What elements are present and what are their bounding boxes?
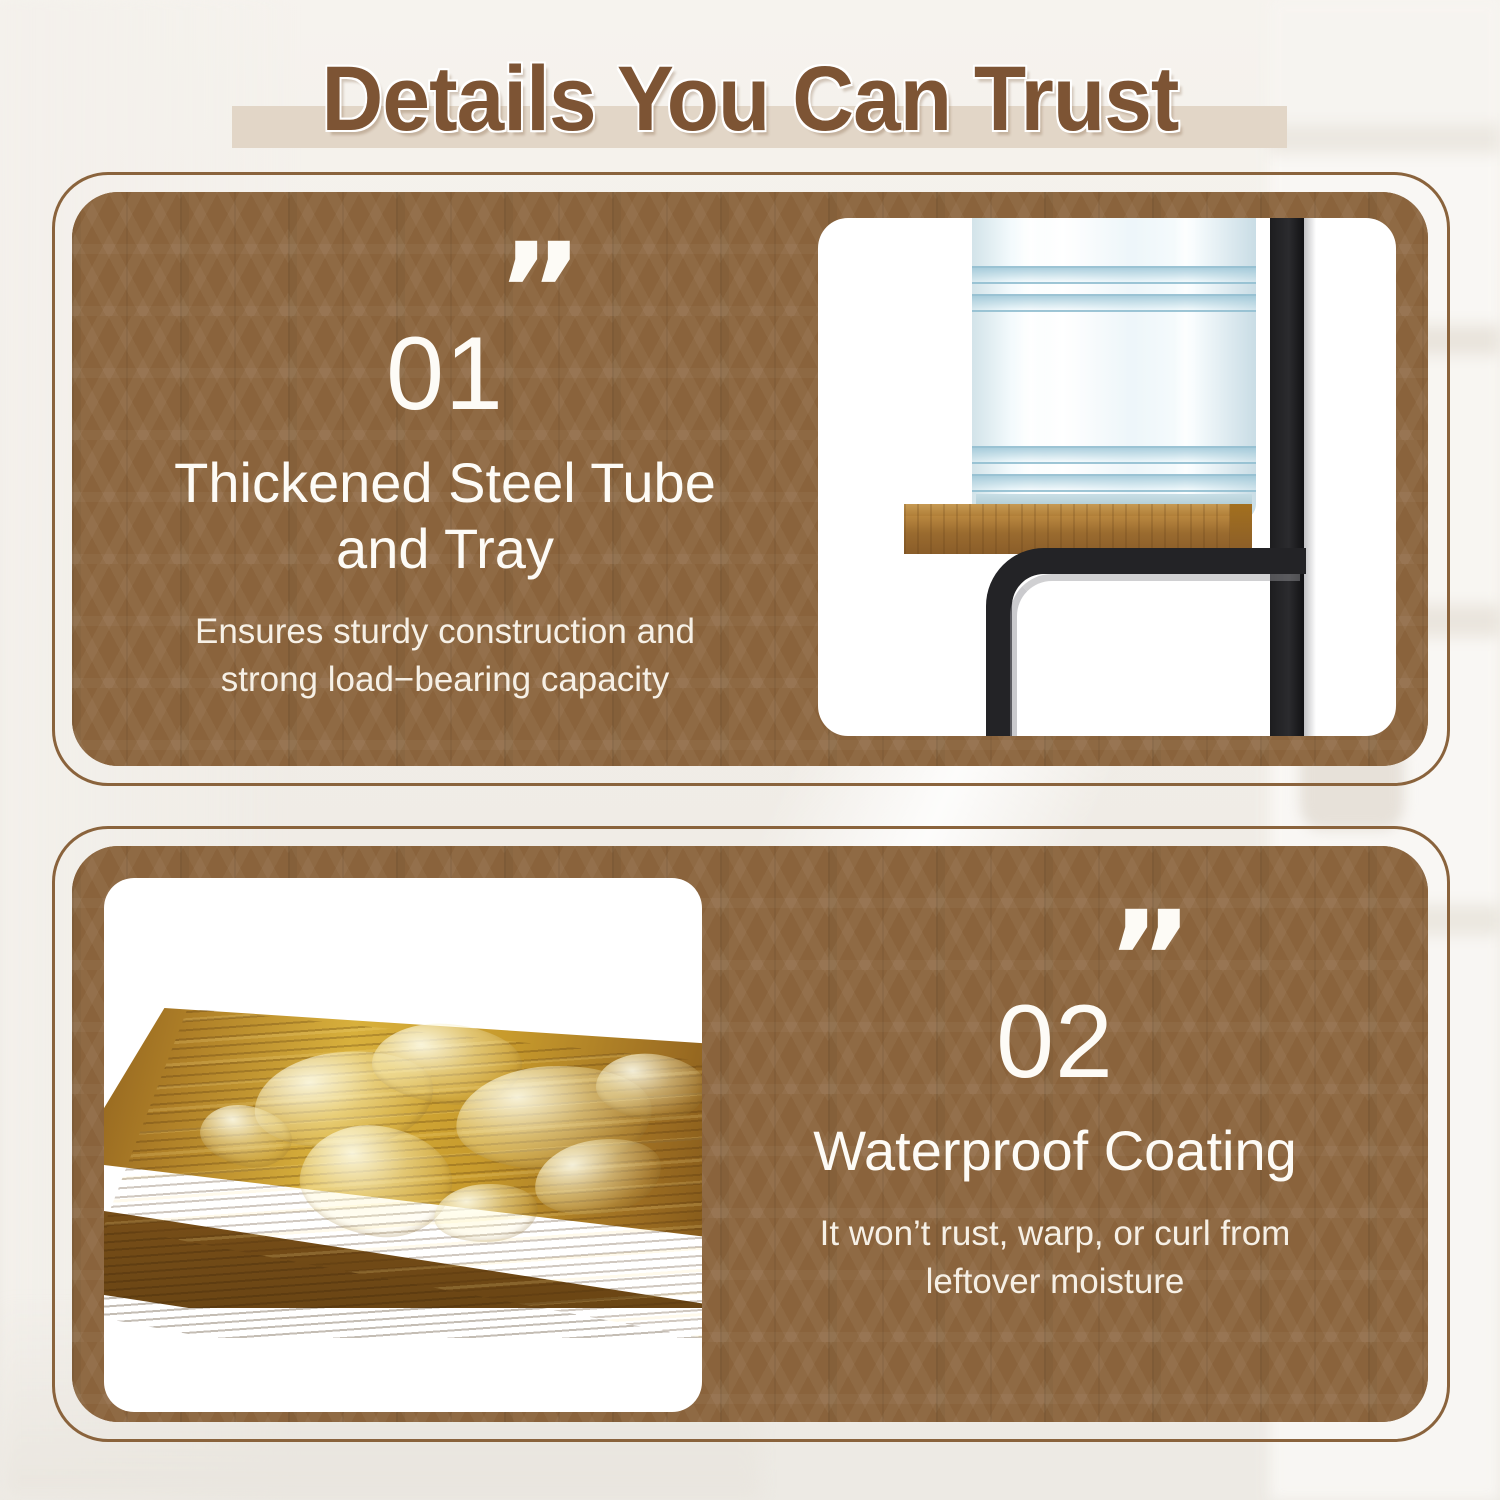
feature-card-2-text: ” 02 Waterproof Coating It won’t rust, w… xyxy=(730,930,1380,1306)
page-title-wrap: Details You Can Trust xyxy=(0,44,1500,164)
jug-rib xyxy=(972,266,1256,284)
page-title: Details You Can Trust xyxy=(53,44,1448,154)
jug-highlight xyxy=(1174,218,1196,508)
quote-icon: ” xyxy=(730,930,1380,990)
wood-board xyxy=(104,1008,702,1338)
feature-card-1-text: ” 01 Thickened Steel Tube and Tray Ensur… xyxy=(120,262,770,704)
feature-subtext: Ensures sturdy construction and strong l… xyxy=(120,608,770,704)
feature-number: 02 xyxy=(730,990,1380,1094)
feature-card-1-photo xyxy=(818,218,1396,736)
feature-number: 01 xyxy=(120,322,770,426)
infographic-stage: Details You Can Trust ” 01 Thickened Ste… xyxy=(0,0,1500,1500)
feature-card-2-photo xyxy=(104,878,702,1412)
steel-frame-leg-sheen xyxy=(1010,574,1300,736)
jug-rib xyxy=(972,474,1256,492)
jug-rib xyxy=(972,294,1256,312)
feature-heading: Thickened Steel Tube and Tray xyxy=(120,450,770,582)
jug-highlight xyxy=(1014,218,1048,508)
wood-tray-end xyxy=(1230,504,1252,554)
jug-rib xyxy=(972,446,1256,464)
feature-heading: Waterproof Coating xyxy=(730,1118,1380,1184)
quote-icon: ” xyxy=(120,262,770,322)
feature-subtext: It won’t rust, warp, or curl from leftov… xyxy=(730,1210,1380,1306)
